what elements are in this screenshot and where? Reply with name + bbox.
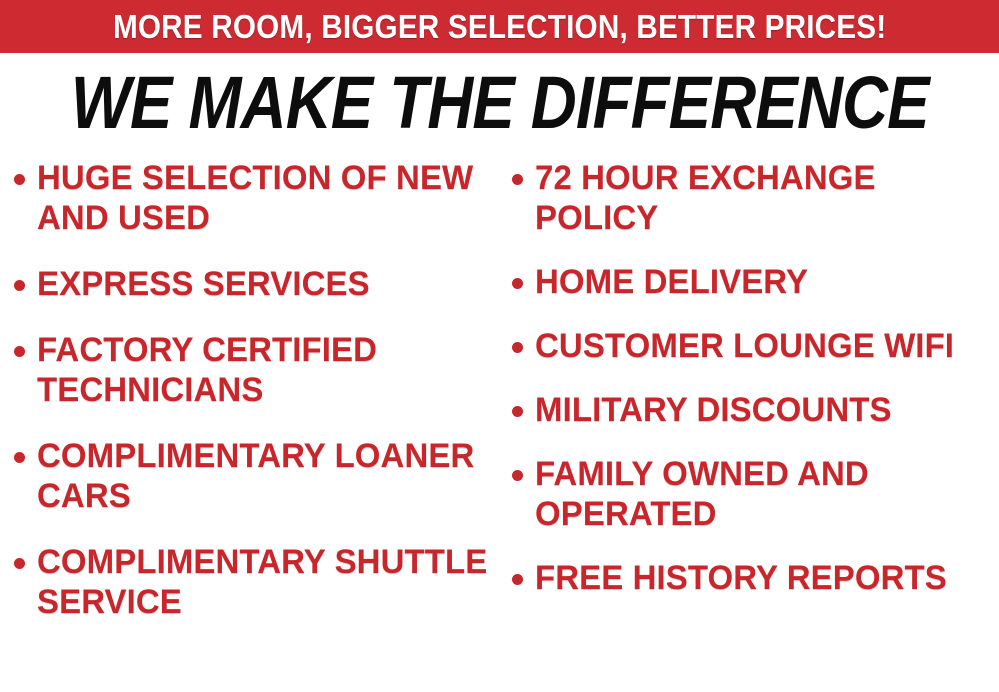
headline-container: WE MAKE THE DIFFERENCE [0, 63, 999, 143]
list-item-label: MILITARY DISCOUNTS [535, 390, 985, 430]
list-item: COMPLIMENTARY SHUTTLE SERVICE [14, 542, 504, 622]
list-item-label: COMPLIMENTARY LOANER CARS [37, 436, 490, 516]
list-item-label: HOME DELIVERY [535, 262, 985, 302]
bullet-dot-icon [14, 346, 25, 357]
bullet-dot-icon [14, 280, 25, 291]
list-item-label: HUGE SELECTION OF NEW AND USED [37, 158, 490, 238]
list-item: EXPRESS SERVICES [14, 264, 504, 304]
list-item: HUGE SELECTION OF NEW AND USED [14, 158, 504, 238]
list-item-label: FREE HISTORY REPORTS [535, 558, 985, 598]
list-item: 72 HOUR EXCHANGE POLICY [512, 158, 999, 238]
list-item: HOME DELIVERY [512, 262, 999, 302]
benefits-column-left: HUGE SELECTION OF NEW AND USED EXPRESS S… [14, 158, 504, 648]
list-item-label: COMPLIMENTARY SHUTTLE SERVICE [37, 542, 490, 622]
bullet-dot-icon [512, 278, 523, 289]
promo-poster: MORE ROOM, BIGGER SELECTION, BETTER PRIC… [0, 0, 999, 692]
bullet-dot-icon [512, 406, 523, 417]
list-item: FREE HISTORY REPORTS [512, 558, 999, 598]
banner-headline-text: MORE ROOM, BIGGER SELECTION, BETTER PRIC… [113, 10, 886, 43]
list-item-label: FAMILY OWNED AND OPERATED [535, 454, 985, 534]
list-item-label: CUSTOMER LOUNGE WIFI [535, 326, 985, 366]
top-banner: MORE ROOM, BIGGER SELECTION, BETTER PRIC… [0, 0, 999, 53]
bullet-dot-icon [512, 174, 523, 185]
list-item-label: EXPRESS SERVICES [37, 264, 490, 304]
benefits-column-right: 72 HOUR EXCHANGE POLICY HOME DELIVERY CU… [512, 158, 999, 622]
bullet-dot-icon [512, 342, 523, 353]
list-item: COMPLIMENTARY LOANER CARS [14, 436, 504, 516]
page-title: WE MAKE THE DIFFERENCE [71, 66, 929, 140]
list-item: FACTORY CERTIFIED TECHNICIANS [14, 330, 504, 410]
bullet-dot-icon [14, 558, 25, 569]
list-item-label: FACTORY CERTIFIED TECHNICIANS [37, 330, 490, 410]
bullet-dot-icon [512, 574, 523, 585]
list-item: FAMILY OWNED AND OPERATED [512, 454, 999, 534]
list-item: MILITARY DISCOUNTS [512, 390, 999, 430]
bullet-dot-icon [14, 452, 25, 463]
list-item-label: 72 HOUR EXCHANGE POLICY [535, 158, 985, 238]
bullet-dot-icon [512, 470, 523, 481]
list-item: CUSTOMER LOUNGE WIFI [512, 326, 999, 366]
benefits-columns: HUGE SELECTION OF NEW AND USED EXPRESS S… [0, 158, 999, 692]
bullet-dot-icon [14, 174, 25, 185]
